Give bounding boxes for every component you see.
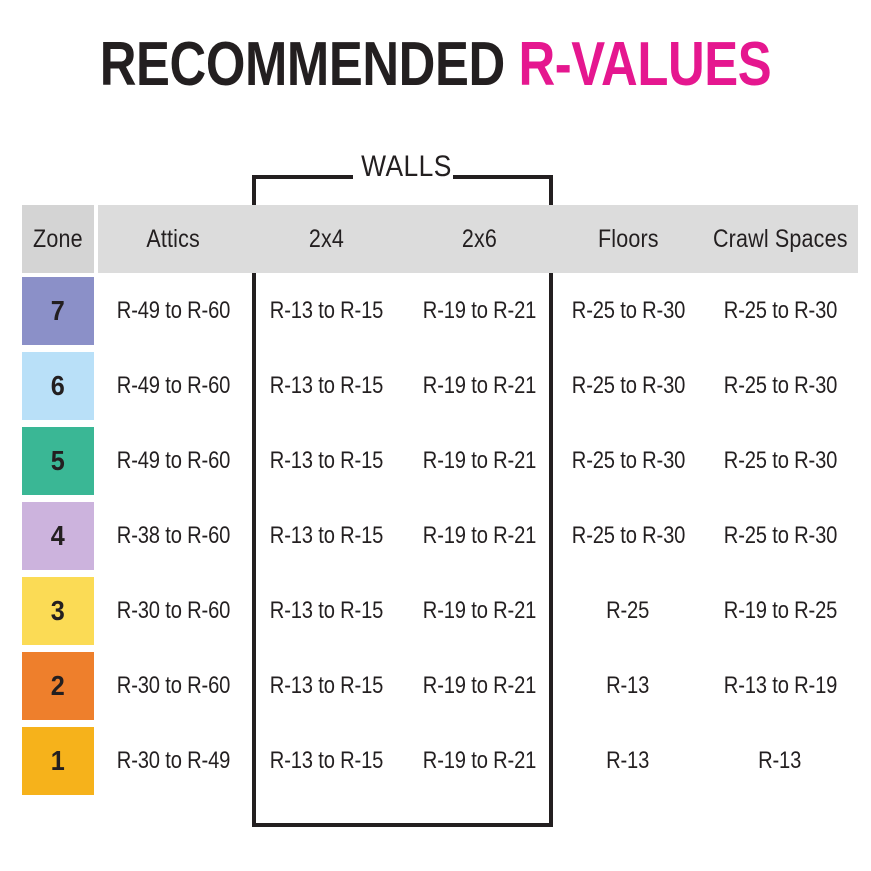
page-title-accent: R-VALUES <box>518 30 771 99</box>
cell-floors: R-13 <box>554 723 702 798</box>
zone-swatch: 1 <box>22 727 94 795</box>
zone-swatch: 4 <box>22 502 94 570</box>
table-row: 5 R-49 to R-60 R-13 to R-15 R-19 to R-21… <box>22 423 858 498</box>
cell-2x6: R-19 to R-21 <box>404 498 554 573</box>
zone-number: 7 <box>51 295 65 327</box>
zone-swatch: 6 <box>22 352 94 420</box>
zone-swatch: 5 <box>22 427 94 495</box>
cell-attics: R-49 to R-60 <box>98 423 248 498</box>
cell-crawl-spaces: R-13 <box>702 723 858 798</box>
zone-number: 1 <box>51 745 65 777</box>
column-header-floors: Floors <box>554 205 702 273</box>
cell-2x4: R-13 to R-15 <box>248 498 404 573</box>
cell-crawl-spaces: R-25 to R-30 <box>702 498 858 573</box>
walls-group-label: WALLS <box>52 150 818 184</box>
cell-floors: R-13 <box>554 648 702 723</box>
cell-2x6: R-19 to R-21 <box>404 423 554 498</box>
cell-2x4: R-13 to R-15 <box>248 723 404 798</box>
cell-attics: R-30 to R-49 <box>98 723 248 798</box>
r-value-table: Zone Attics 2x4 2x6 Floors Crawl Spaces … <box>22 205 858 798</box>
zone-swatch-cell: 7 <box>22 273 94 348</box>
cell-2x4: R-13 to R-15 <box>248 423 404 498</box>
table-header-row: Zone Attics 2x4 2x6 Floors Crawl Spaces <box>22 205 858 273</box>
zone-swatch: 2 <box>22 652 94 720</box>
zone-number: 5 <box>51 445 65 477</box>
zone-swatch: 7 <box>22 277 94 345</box>
column-header-attics: Attics <box>98 205 248 273</box>
cell-crawl-spaces: R-25 to R-30 <box>702 273 858 348</box>
table-row: 1 R-30 to R-49 R-13 to R-15 R-19 to R-21… <box>22 723 858 798</box>
column-header-2x4: 2x4 <box>248 205 404 273</box>
cell-attics: R-49 to R-60 <box>98 348 248 423</box>
zone-number: 3 <box>51 595 65 627</box>
cell-2x6: R-19 to R-21 <box>404 573 554 648</box>
zone-swatch-cell: 5 <box>22 423 94 498</box>
cell-floors: R-25 to R-30 <box>554 498 702 573</box>
zone-swatch-cell: 6 <box>22 348 94 423</box>
cell-2x4: R-13 to R-15 <box>248 648 404 723</box>
cell-crawl-spaces: R-25 to R-30 <box>702 348 858 423</box>
cell-attics: R-30 to R-60 <box>98 648 248 723</box>
table-row: 4 R-38 to R-60 R-13 to R-15 R-19 to R-21… <box>22 498 858 573</box>
zone-swatch-cell: 1 <box>22 723 94 798</box>
table-row: 7 R-49 to R-60 R-13 to R-15 R-19 to R-21… <box>22 273 858 348</box>
zone-swatch-cell: 3 <box>22 573 94 648</box>
cell-attics: R-38 to R-60 <box>98 498 248 573</box>
zone-swatch: 3 <box>22 577 94 645</box>
cell-2x6: R-19 to R-21 <box>404 723 554 798</box>
page-title-main: RECOMMENDED <box>100 30 505 99</box>
cell-crawl-spaces: R-25 to R-30 <box>702 423 858 498</box>
table-row: 3 R-30 to R-60 R-13 to R-15 R-19 to R-21… <box>22 573 858 648</box>
cell-2x4: R-13 to R-15 <box>248 273 404 348</box>
zone-number: 4 <box>51 520 65 552</box>
page-title: RECOMMENDED R-VALUES <box>0 34 871 96</box>
cell-floors: R-25 <box>554 573 702 648</box>
cell-attics: R-30 to R-60 <box>98 573 248 648</box>
cell-crawl-spaces: R-13 to R-19 <box>702 648 858 723</box>
cell-2x6: R-19 to R-21 <box>404 273 554 348</box>
zone-swatch-cell: 2 <box>22 648 94 723</box>
table-row: 6 R-49 to R-60 R-13 to R-15 R-19 to R-21… <box>22 348 858 423</box>
cell-2x6: R-19 to R-21 <box>404 648 554 723</box>
cell-floors: R-25 to R-30 <box>554 348 702 423</box>
table-row: 2 R-30 to R-60 R-13 to R-15 R-19 to R-21… <box>22 648 858 723</box>
zone-number: 2 <box>51 670 65 702</box>
cell-2x4: R-13 to R-15 <box>248 348 404 423</box>
cell-floors: R-25 to R-30 <box>554 423 702 498</box>
cell-crawl-spaces: R-19 to R-25 <box>702 573 858 648</box>
column-header-2x6: 2x6 <box>404 205 554 273</box>
cell-2x6: R-19 to R-21 <box>404 348 554 423</box>
cell-2x4: R-13 to R-15 <box>248 573 404 648</box>
cell-floors: R-25 to R-30 <box>554 273 702 348</box>
zone-swatch-cell: 4 <box>22 498 94 573</box>
column-header-zone: Zone <box>22 205 94 273</box>
cell-attics: R-49 to R-60 <box>98 273 248 348</box>
zone-number: 6 <box>51 370 65 402</box>
column-header-crawl-spaces: Crawl Spaces <box>702 205 858 273</box>
